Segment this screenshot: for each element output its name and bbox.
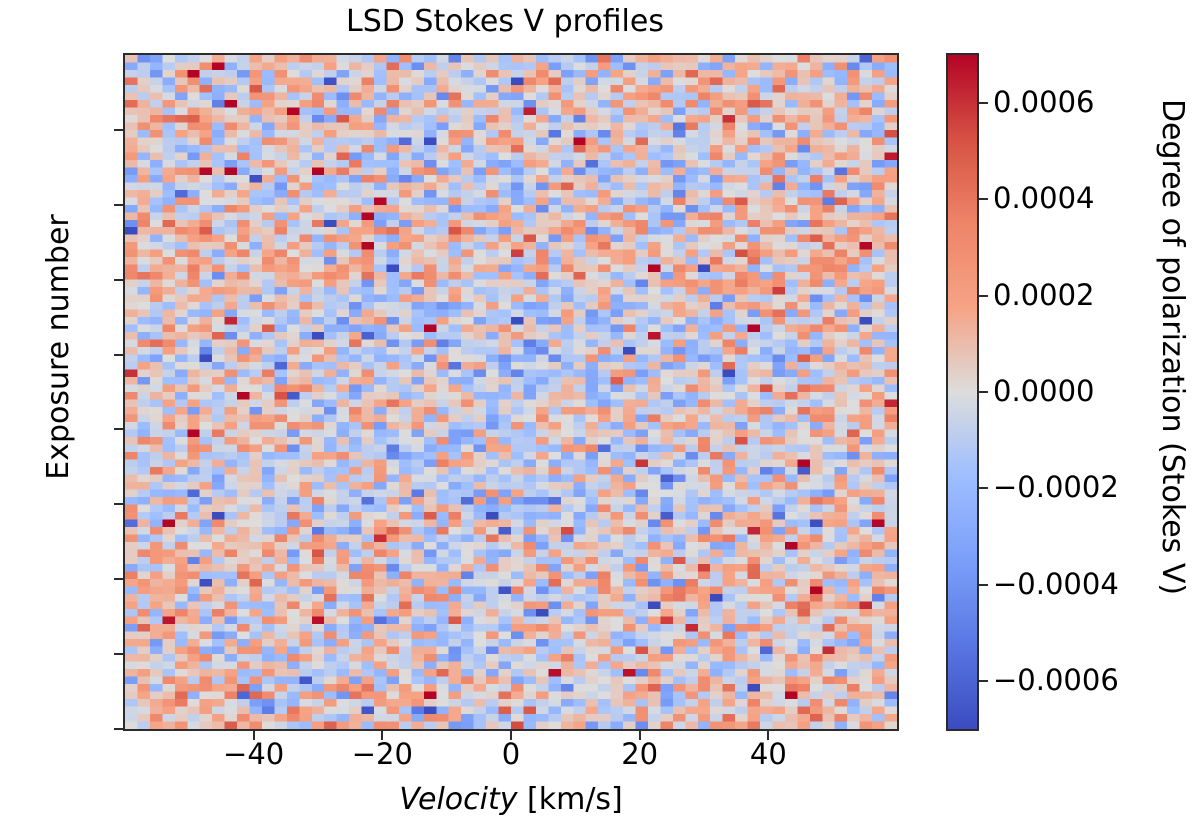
y-axis-tick-mark — [114, 204, 123, 206]
x-axis-tick-label: 40 — [688, 740, 848, 769]
y-axis-tick-mark — [114, 279, 123, 281]
colorbar-tick-mark — [979, 198, 988, 200]
y-axis-tick-mark — [114, 578, 123, 580]
y-axis-label: Exposure number — [44, 7, 74, 687]
y-axis-tick-mark — [114, 503, 123, 505]
colorbar-tick-mark — [979, 295, 988, 297]
page-title: LSD Stokes V profiles — [0, 4, 1010, 40]
x-axis-label-units: [km/s] — [517, 782, 622, 817]
colorbar-tick-label: −0.0002 — [993, 473, 1119, 502]
colorbar-tick-mark — [979, 487, 988, 489]
x-axis-label-quantity: Velocity — [399, 782, 517, 817]
colorbar-tick-mark — [979, 391, 988, 393]
y-axis-tick-mark — [114, 728, 123, 730]
y-axis-tick-mark — [114, 428, 123, 430]
x-axis-label: Velocity [km/s] — [123, 783, 899, 817]
heatmap-image — [125, 55, 897, 729]
colorbar-tick-label: −0.0006 — [993, 666, 1119, 695]
y-axis-tick-mark — [114, 354, 123, 356]
colorbar-tick-label: 0.0000 — [993, 377, 1094, 406]
heatmap-plot-area[interactable] — [123, 53, 899, 731]
colorbar-gradient — [948, 55, 977, 729]
colorbar-tick-label: 0.0004 — [993, 184, 1094, 213]
colorbar-tick-mark — [979, 680, 988, 682]
colorbar-tick-label: −0.0004 — [993, 570, 1119, 599]
colorbar-label: Degree of polarization (Stokes V) — [1157, 7, 1187, 687]
colorbar[interactable] — [946, 53, 979, 731]
y-axis-tick-mark — [114, 129, 123, 131]
colorbar-tick-mark — [979, 102, 988, 104]
y-axis-tick-mark — [114, 653, 123, 655]
colorbar-tick-label: 0.0002 — [993, 281, 1094, 310]
colorbar-tick-label: 0.0006 — [993, 88, 1094, 117]
figure-canvas: LSD Stokes V profiles 01020304050607080 … — [0, 0, 1200, 825]
colorbar-tick-mark — [979, 584, 988, 586]
